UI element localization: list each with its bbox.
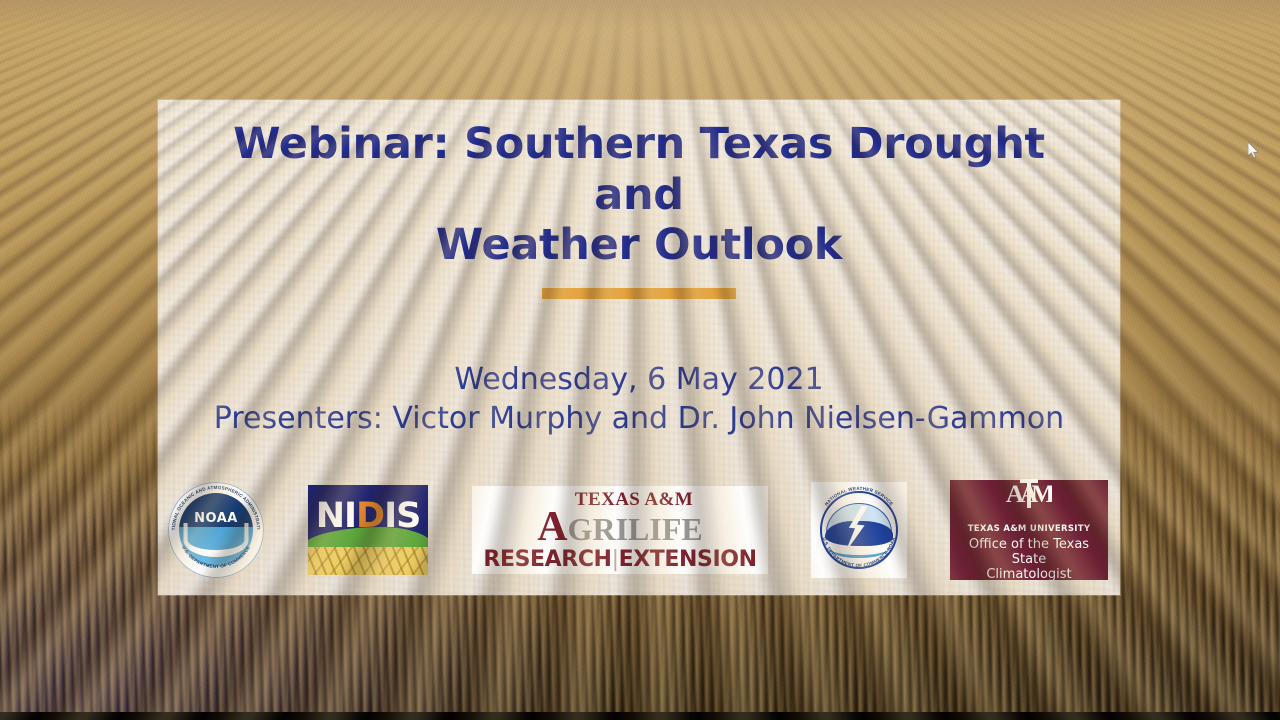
title-block: Webinar: Southern Texas Drought and Weat… xyxy=(199,119,1079,299)
slide-title-line-2: Weather Outlook xyxy=(199,220,1079,271)
svg-text:M: M xyxy=(1031,481,1052,508)
nidis-logo-icon: NIDIS xyxy=(307,484,429,576)
tsc-university-name: TEXAS A&M UNIVERSITY xyxy=(968,525,1091,534)
agrilife-wordmark: AGRILIFE xyxy=(480,506,760,549)
svg-text:U.S. DEPARTMENT OF COMMERCE: U.S. DEPARTMENT OF COMMERCE xyxy=(181,545,251,569)
presenters: Presenters: Victor Murphy and Dr. John N… xyxy=(214,399,1064,438)
agrilife-letter-l: L xyxy=(628,511,649,547)
tsc-office-line-2: Climatologist xyxy=(956,567,1102,582)
atm-mark-icon: A A M xyxy=(1006,476,1052,515)
agrilife-research: RESEARCH xyxy=(483,547,611,572)
video-frame: Webinar: Southern Texas Drought and Weat… xyxy=(0,0,1280,720)
noaa-logo-icon: NOAA NATIONAL OCEANIC AND ATMOSPHERIC AD… xyxy=(168,482,264,578)
tsc-office-name: Office of the Texas State Climatologist xyxy=(956,537,1102,583)
noaa-seal-ring-text: NATIONAL OCEANIC AND ATMOSPHERIC ADMINIS… xyxy=(168,482,264,578)
logo-strip: NOAA NATIONAL OCEANIC AND ATMOSPHERIC AD… xyxy=(158,480,1120,580)
tsc-office-line-1: Office of the Texas State xyxy=(956,537,1102,568)
agrilife-divider: | xyxy=(612,547,619,572)
letterbox-bar-bottom xyxy=(0,712,1280,720)
slide-panel: Webinar: Southern Texas Drought and Weat… xyxy=(158,100,1120,595)
texas-state-climatologist-logo: A A M TEXAS A&M UNIVERSITY Office of the… xyxy=(950,480,1108,580)
svg-text:U.S. DEPARTMENT OF COMMERCE-NO: U.S. DEPARTMENT OF COMMERCE-NOAA xyxy=(822,536,896,568)
nidis-cracked-earth xyxy=(308,547,428,575)
agrilife-research-extension: RESEARCH|EXTENSION xyxy=(480,549,760,571)
agrilife-logo-icon: TEXAS A&M AGRILIFE RESEARCH|EXTENSION xyxy=(472,486,768,574)
national-weather-service-logo-icon: NATIONAL WEATHER SERVICE U.S. DEPARTMENT… xyxy=(811,482,907,578)
agrilife-letter-a: A xyxy=(537,504,567,550)
agrilife-extension: EXTENSION xyxy=(619,547,757,572)
atm-logo-glyph: A A M xyxy=(1006,476,1052,510)
svg-text:A: A xyxy=(1006,481,1024,508)
svg-text:NATIONAL OCEANIC AND ATMOSPHER: NATIONAL OCEANIC AND ATMOSPHERIC ADMINIS… xyxy=(168,482,261,530)
webinar-date: Wednesday, 6 May 2021 xyxy=(214,360,1064,399)
svg-text:NATIONAL WEATHER SERVICE: NATIONAL WEATHER SERVICE xyxy=(824,486,894,507)
gold-accent-bar xyxy=(542,288,736,299)
slide-title-line-1: Webinar: Southern Texas Drought and xyxy=(199,119,1079,220)
nidis-soil-band xyxy=(308,547,428,575)
agrilife-ife: IFE xyxy=(649,511,702,547)
agrilife-gri: GRI xyxy=(568,511,628,547)
subtitle-block: Wednesday, 6 May 2021 Presenters: Victor… xyxy=(214,360,1064,438)
nws-seal-ring-text: NATIONAL WEATHER SERVICE U.S. DEPARTMENT… xyxy=(811,482,907,578)
